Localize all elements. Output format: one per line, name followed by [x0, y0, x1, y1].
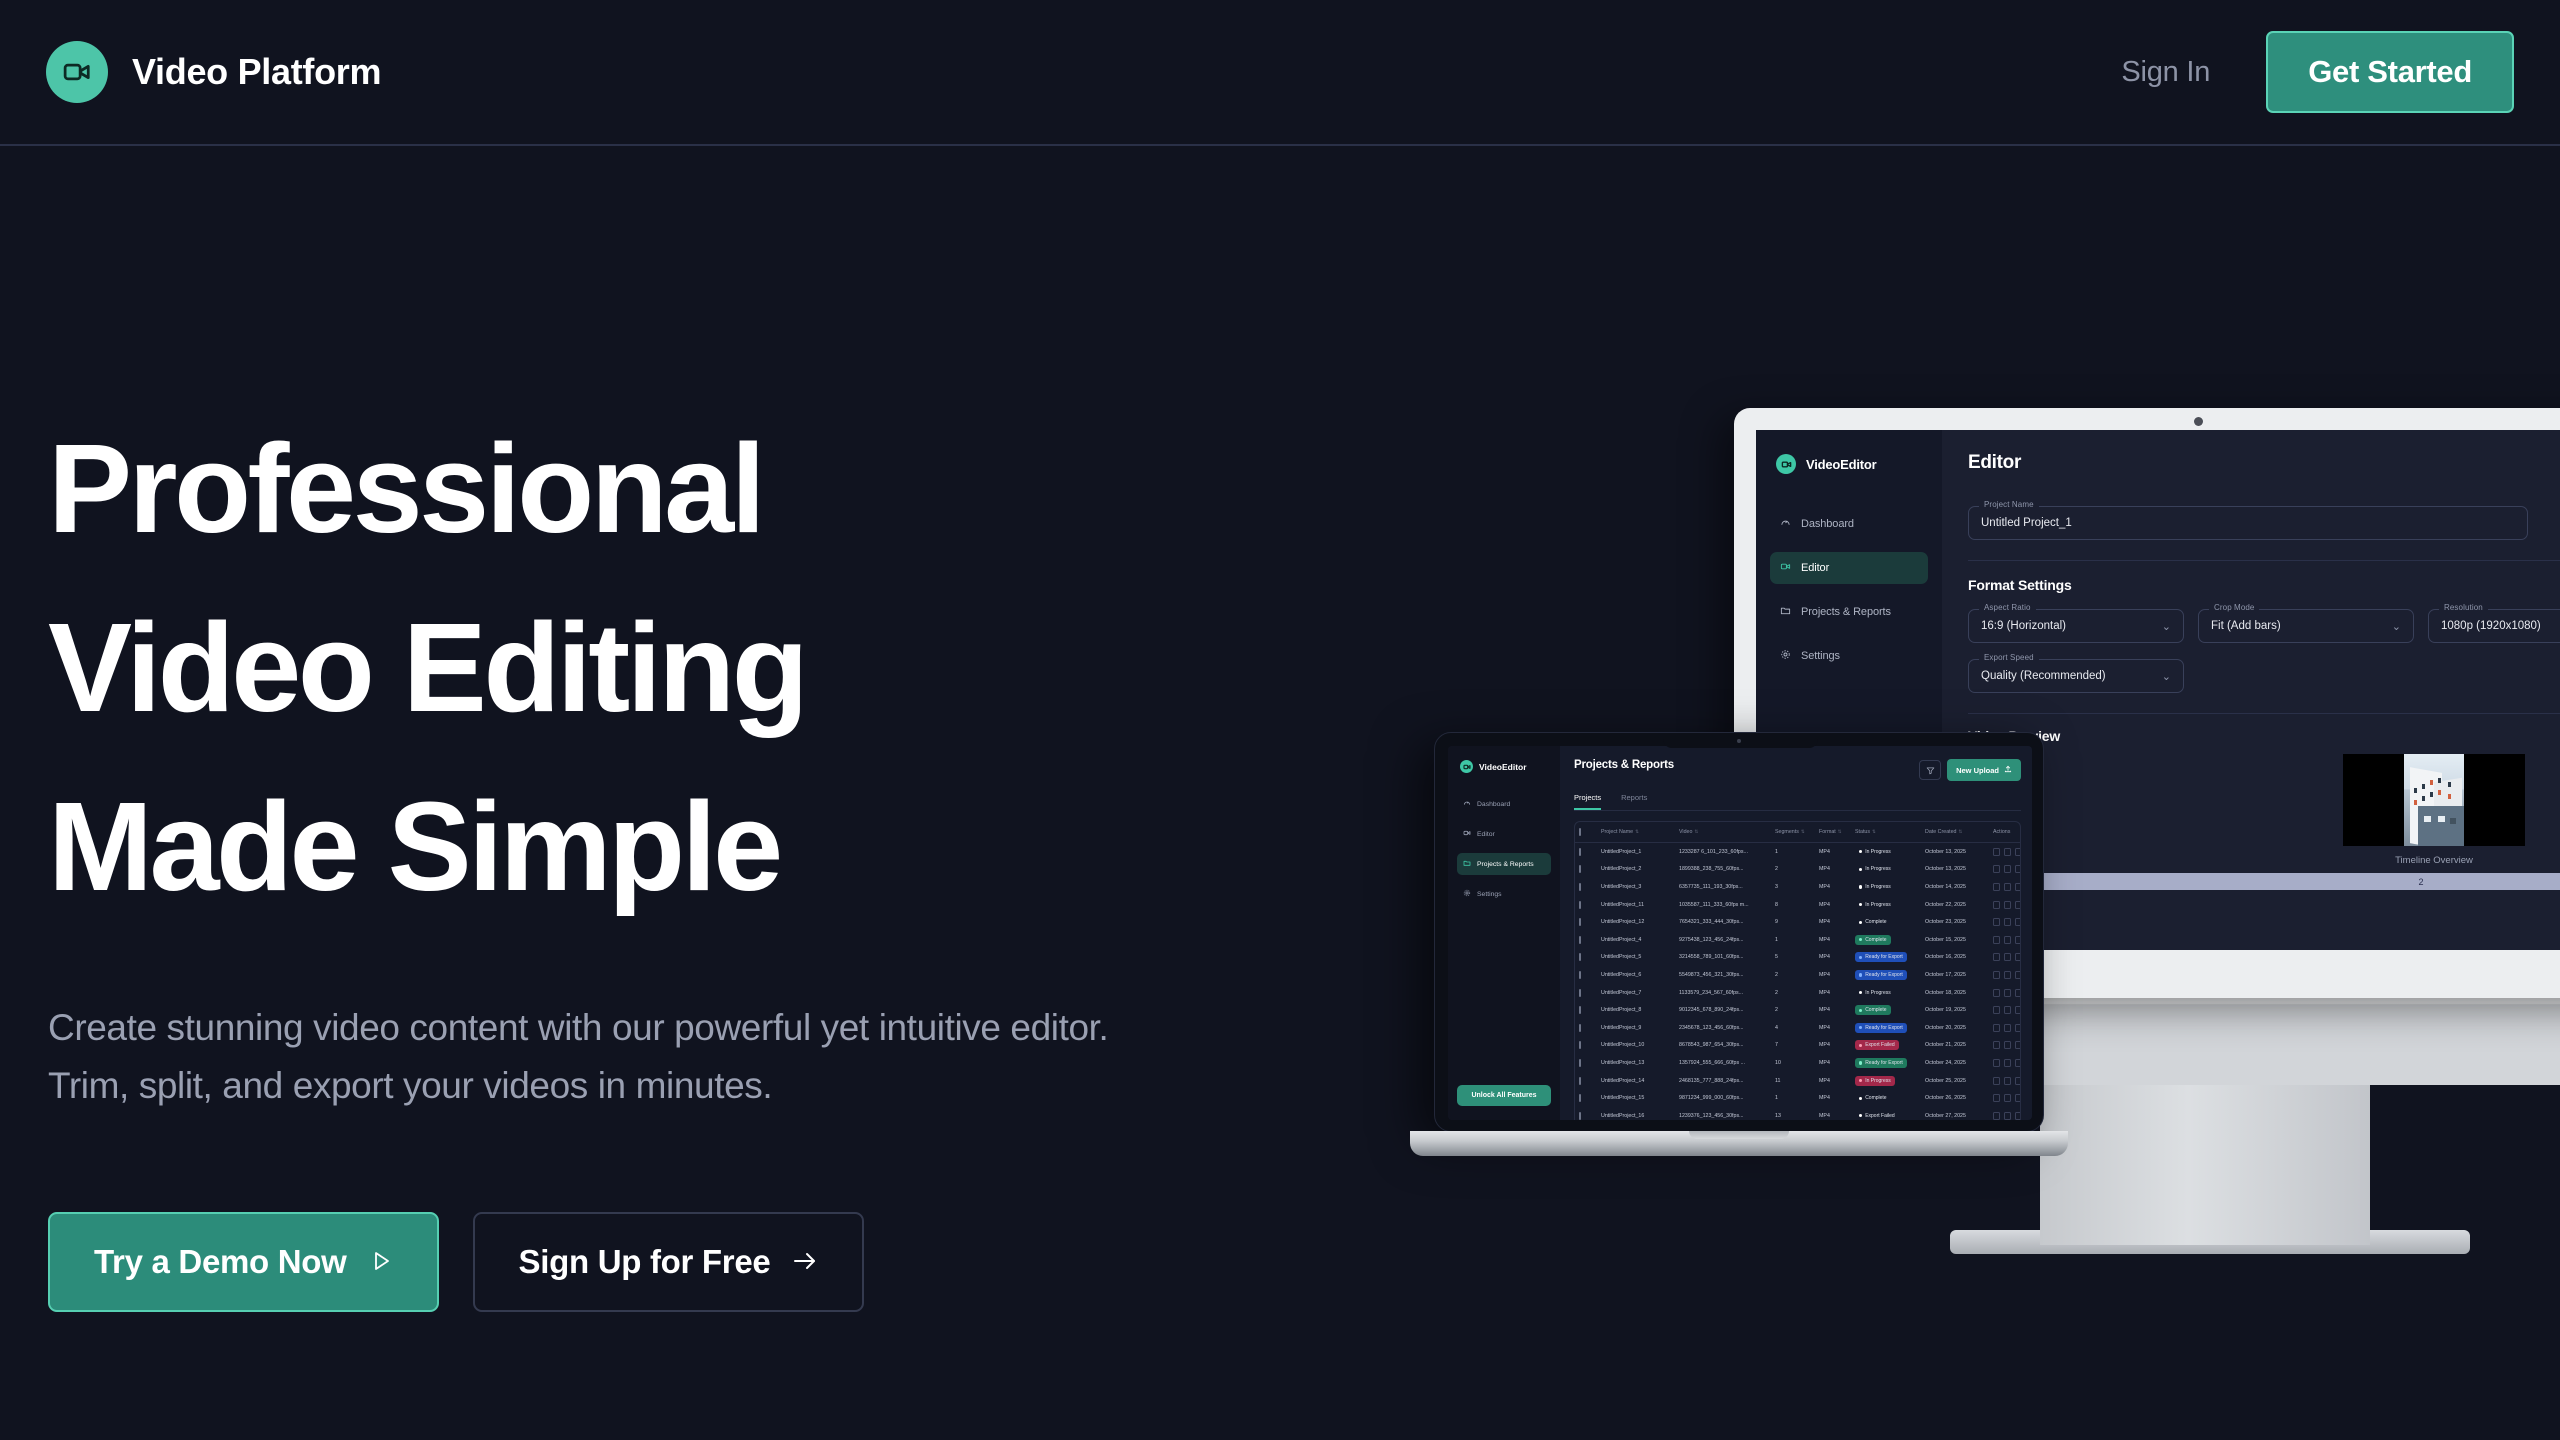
cell-format: MP4 [1819, 1060, 1855, 1066]
delete-icon[interactable] [2015, 918, 2021, 926]
download-icon[interactable] [2004, 971, 2011, 979]
page-title: Professional Video Editing Made Simple [48, 400, 1148, 937]
project-name-value: Untitled Project_1 [1981, 517, 2072, 529]
delete-icon[interactable] [2015, 1041, 2021, 1049]
video-frame-image [2404, 754, 2464, 846]
upload-icon [2004, 765, 2012, 775]
table-header-row: Project Name⇅ Video⇅ Segments⇅ Format⇅ S… [1575, 822, 2020, 843]
video-preview-player[interactable] [2343, 754, 2525, 846]
cell-project-name: UntitledProject_14 [1601, 1078, 1679, 1084]
table-row[interactable]: UntitledProject_65549873_456_321_30fps..… [1575, 966, 2020, 984]
edit-icon[interactable] [1993, 953, 2000, 961]
hero-section: Professional Video Editing Made Simple C… [48, 400, 1148, 1312]
status-badge: Ready for Export [1855, 1058, 1925, 1068]
table-row[interactable]: UntitledProject_127654321_333_444_30fps.… [1575, 913, 2020, 931]
sidebar-item-dashboard[interactable]: Dashboard [1457, 793, 1551, 815]
brand-logo[interactable]: Video Platform [46, 41, 381, 103]
sort-icon: ⇅ [1635, 829, 1639, 834]
cell-video: 8678543_987_654_30fps... [1679, 1042, 1775, 1048]
sidebar-item-dashboard[interactable]: Dashboard [1770, 508, 1928, 540]
cell-segments: 9 [1775, 919, 1819, 925]
sidebar-label: Settings [1801, 650, 1840, 662]
status-badge: Ready for Export [1855, 1023, 1925, 1033]
gauge-icon [1780, 517, 1791, 531]
cell-segments: 1 [1775, 937, 1819, 943]
cell-format: MP4 [1819, 1042, 1855, 1048]
edit-icon[interactable] [1993, 936, 2000, 944]
laptop-header: Projects & Reports New Upload [1574, 759, 2021, 781]
delete-icon[interactable] [2015, 848, 2021, 856]
download-icon[interactable] [2004, 1112, 2011, 1120]
cell-segments: 13 [1775, 1113, 1819, 1119]
cell-date-created: October 24, 2025 [1925, 1060, 1993, 1066]
row-checkbox[interactable] [1579, 1060, 1601, 1066]
cell-format: MP4 [1819, 954, 1855, 960]
download-icon[interactable] [2004, 1094, 2011, 1102]
cell-format: MP4 [1819, 972, 1855, 978]
cell-project-name: UntitledProject_6 [1601, 972, 1679, 978]
crop-mode-value: Fit (Add bars) [2211, 620, 2281, 632]
crop-mode-label: Crop Mode [2209, 603, 2259, 612]
edit-icon[interactable] [1993, 1112, 2000, 1120]
timeline-overview-label: Timeline Overview [1968, 855, 2560, 866]
delete-icon[interactable] [2015, 1059, 2021, 1067]
header-actions: Sign In Get Started [2121, 31, 2514, 113]
download-icon[interactable] [2004, 936, 2011, 944]
row-actions [1993, 918, 2021, 926]
cell-video: 1357924_555_666_60fps ... [1679, 1060, 1775, 1066]
cell-date-created: October 13, 2025 [1925, 849, 1993, 855]
video-camera-icon [1776, 454, 1796, 474]
cell-project-name: UntitledProject_15 [1601, 1095, 1679, 1101]
cell-video: 7654321_333_444_30fps... [1679, 919, 1775, 925]
cell-project-name: UntitledProject_2 [1601, 866, 1679, 872]
delete-icon[interactable] [2015, 1077, 2021, 1085]
download-icon[interactable] [2004, 1006, 2011, 1014]
table-body: UntitledProject_11233287 6_101_233_60fps… [1575, 843, 2020, 1120]
download-icon[interactable] [2004, 1077, 2011, 1085]
download-icon[interactable] [2004, 1059, 2011, 1067]
delete-icon[interactable] [2015, 1094, 2021, 1102]
cell-video: 1133579_234_567_60fps... [1679, 990, 1775, 996]
download-icon[interactable] [2004, 883, 2011, 891]
cell-segments: 8 [1775, 902, 1819, 908]
row-actions [1993, 1077, 2021, 1085]
cell-project-name: UntitledProject_9 [1601, 1025, 1679, 1031]
cell-format: MP4 [1819, 884, 1855, 890]
video-camera-icon [46, 41, 108, 103]
video-preview-header: Video Preview Video player size [1968, 728, 2560, 744]
cell-segments: 1 [1775, 1095, 1819, 1101]
row-actions [1993, 1094, 2021, 1102]
get-started-button[interactable]: Get Started [2266, 31, 2514, 113]
delete-icon[interactable] [2015, 1112, 2021, 1120]
cell-format: MP4 [1819, 1078, 1855, 1084]
hero-cta-group: Try a Demo Now Sign Up for Free [48, 1212, 1148, 1312]
status-badge: Complete [1855, 917, 1925, 927]
sort-icon: ⇅ [1959, 829, 1963, 834]
row-actions [1993, 1041, 2021, 1049]
download-icon[interactable] [2004, 953, 2011, 961]
row-actions [1993, 883, 2021, 891]
download-icon[interactable] [2004, 918, 2011, 926]
brand-name: Video Platform [132, 51, 381, 93]
cell-segments: 2 [1775, 990, 1819, 996]
cell-date-created: October 26, 2025 [1925, 1095, 1993, 1101]
cell-video: 1899388_238_755_60fps... [1679, 866, 1775, 872]
delete-icon[interactable] [2015, 1024, 2021, 1032]
row-actions [1993, 901, 2021, 909]
cell-date-created: October 18, 2025 [1925, 990, 1993, 996]
cell-date-created: October 15, 2025 [1925, 937, 1993, 943]
laptop-mockup: VideoEditor Dashboard Editor Projects & … [1434, 732, 2044, 1156]
row-checkbox[interactable] [1579, 937, 1601, 943]
row-actions [1993, 1006, 2021, 1014]
cell-project-name: UntitledProject_13 [1601, 1060, 1679, 1066]
editor-brand-name: VideoEditor [1806, 457, 1877, 472]
format-settings-title: Format Settings [1968, 577, 2560, 593]
edit-icon[interactable] [1993, 901, 2000, 909]
cell-project-name: UntitledProject_16 [1601, 1113, 1679, 1119]
cell-segments: 2 [1775, 972, 1819, 978]
cell-format: MP4 [1819, 990, 1855, 996]
chevron-down-icon: ⌄ [2162, 620, 2171, 633]
divider [1968, 560, 2560, 561]
sidebar-item-settings[interactable]: Settings [1457, 883, 1551, 905]
laptop-main-panel: Projects & Reports New Upload [1560, 746, 2032, 1120]
delete-icon[interactable] [2015, 883, 2021, 891]
sidebar-label: Editor [1801, 562, 1829, 574]
table-row[interactable]: UntitledProject_92345678_123_456_60fps..… [1575, 1019, 2020, 1037]
row-actions [1993, 953, 2021, 961]
laptop-tabs: Projects Reports [1574, 793, 2021, 811]
hero-title-line-1: Professional [48, 400, 1148, 579]
sort-icon: ⇅ [1872, 829, 1876, 834]
cell-date-created: October 16, 2025 [1925, 954, 1993, 960]
chevron-down-icon: ⌄ [2162, 670, 2171, 683]
edit-icon[interactable] [1993, 989, 2000, 997]
hero-title-line-3: Made Simple [48, 758, 1148, 937]
hero-title-line-2: Video Editing [48, 579, 1148, 758]
cell-format: MP4 [1819, 849, 1855, 855]
delete-icon[interactable] [2015, 936, 2021, 944]
sidebar-label: Settings [1477, 891, 1502, 898]
edit-icon[interactable] [1993, 1094, 2000, 1102]
sign-in-link[interactable]: Sign In [2121, 56, 2210, 89]
tab-projects[interactable]: Projects [1574, 793, 1601, 810]
column-header-date-created[interactable]: Date Created⇅ [1925, 829, 1993, 835]
row-checkbox[interactable] [1579, 1095, 1601, 1101]
row-checkbox[interactable] [1579, 1042, 1601, 1048]
status-badge: Complete [1855, 1005, 1925, 1015]
video-camera-icon [1780, 561, 1791, 575]
gear-icon [1463, 889, 1471, 899]
row-actions [1993, 865, 2021, 873]
sort-icon: ⇅ [1838, 829, 1842, 834]
row-checkbox[interactable] [1579, 1007, 1601, 1013]
cell-format: MP4 [1819, 866, 1855, 872]
status-badge: Ready for Export [1855, 970, 1925, 980]
status-badge: In Progress [1855, 864, 1925, 874]
edit-icon[interactable] [1993, 1006, 2000, 1014]
row-checkbox[interactable] [1579, 866, 1601, 872]
laptop-lid: VideoEditor Dashboard Editor Projects & … [1434, 732, 2044, 1132]
cell-format: MP4 [1819, 1095, 1855, 1101]
column-header-status[interactable]: Status⇅ [1855, 829, 1925, 835]
column-header-format[interactable]: Format⇅ [1819, 829, 1855, 835]
edit-icon[interactable] [1993, 883, 2000, 891]
site-header: Video Platform Sign In Get Started [0, 0, 2560, 146]
video-camera-icon [1460, 760, 1473, 773]
cell-segments: 5 [1775, 954, 1819, 960]
edit-icon[interactable] [1993, 1059, 2000, 1067]
download-icon[interactable] [2004, 865, 2011, 873]
cell-date-created: October 17, 2025 [1925, 972, 1993, 978]
laptop-brand: VideoEditor [1457, 760, 1551, 773]
export-speed-label: Export Speed [1979, 653, 2039, 662]
cell-segments: 1 [1775, 849, 1819, 855]
cell-project-name: UntitledProject_8 [1601, 1007, 1679, 1013]
laptop-base-notch [1689, 1131, 1789, 1139]
status-badge: In Progress [1855, 1076, 1925, 1086]
tab-reports[interactable]: Reports [1621, 793, 1647, 810]
cell-video: 1233287 6_101_233_60fps... [1679, 849, 1775, 855]
folder-icon [1780, 605, 1791, 619]
resolution-select[interactable]: Resolution 1080p (1920x1080) ⌄ [2428, 609, 2560, 643]
table-row[interactable]: UntitledProject_36357735_111_193_30fps..… [1575, 878, 2020, 896]
table-row[interactable]: UntitledProject_161239376_123_456_30fps.… [1575, 1107, 2020, 1120]
row-actions [1993, 848, 2021, 856]
row-checkbox[interactable] [1579, 902, 1601, 908]
cell-date-created: October 23, 2025 [1925, 919, 1993, 925]
download-icon[interactable] [2004, 901, 2011, 909]
cell-segments: 4 [1775, 1025, 1819, 1031]
column-header-segments[interactable]: Segments⇅ [1775, 829, 1819, 835]
edit-icon[interactable] [1993, 865, 2000, 873]
table-row[interactable]: UntitledProject_71133579_234_567_60fps..… [1575, 984, 2020, 1002]
edit-icon[interactable] [1993, 848, 2000, 856]
cell-video: 1035587_111_333_60fps m... [1679, 902, 1775, 908]
table-row[interactable]: UntitledProject_21899388_238_755_60fps..… [1575, 861, 2020, 879]
cell-segments: 2 [1775, 1007, 1819, 1013]
row-checkbox[interactable] [1579, 1025, 1601, 1031]
new-upload-label: New Upload [1956, 766, 1999, 775]
row-actions [1993, 989, 2021, 997]
cell-video: 9012345_678_890_24fps... [1679, 1007, 1775, 1013]
cell-date-created: October 25, 2025 [1925, 1078, 1993, 1084]
row-checkbox[interactable] [1579, 1113, 1601, 1119]
row-checkbox[interactable] [1579, 990, 1601, 996]
cell-video: 1239376_123_456_30fps... [1679, 1113, 1775, 1119]
cell-format: MP4 [1819, 919, 1855, 925]
sidebar-item-editor[interactable]: Editor [1457, 823, 1551, 845]
edit-icon[interactable] [1993, 1024, 2000, 1032]
editor-brand: VideoEditor [1770, 454, 1928, 474]
table-row[interactable]: UntitledProject_49275438_123_456_24fps..… [1575, 931, 2020, 949]
format-fields-row-2: Export Speed Quality (Recommended) ⌄ [1968, 643, 2560, 693]
status-badge: In Progress [1855, 988, 1925, 998]
table-row[interactable]: UntitledProject_108678543_987_654_30fps.… [1575, 1037, 2020, 1055]
download-icon[interactable] [2004, 1024, 2011, 1032]
sidebar-item-settings[interactable]: Settings [1770, 640, 1928, 672]
project-name-label: Project Name [1979, 500, 2039, 509]
delete-icon[interactable] [2015, 865, 2021, 873]
laptop-brand-name: VideoEditor [1479, 762, 1527, 772]
row-checkbox[interactable] [1579, 1078, 1601, 1084]
download-icon[interactable] [2004, 1041, 2011, 1049]
laptop-camera-icon [1737, 739, 1741, 743]
cell-date-created: October 19, 2025 [1925, 1007, 1993, 1013]
status-badge: Ready for Export [1855, 952, 1925, 962]
table-row[interactable]: UntitledProject_111035587_111_333_60fps … [1575, 896, 2020, 914]
projects-table: Project Name⇅ Video⇅ Segments⇅ Format⇅ S… [1574, 821, 2021, 1120]
edit-icon[interactable] [1993, 971, 2000, 979]
cell-date-created: October 22, 2025 [1925, 902, 1993, 908]
video-camera-icon [1463, 829, 1471, 839]
row-actions [1993, 1059, 2021, 1067]
row-checkbox[interactable] [1579, 849, 1601, 855]
folder-icon [1463, 859, 1471, 869]
crop-mode-select[interactable]: Crop Mode Fit (Add bars) ⌄ [2198, 609, 2414, 643]
table-row[interactable]: UntitledProject_53214558_789_101_60fps..… [1575, 949, 2020, 967]
try-demo-button[interactable]: Try a Demo Now [48, 1212, 439, 1312]
cell-video: 9275438_123_456_24fps... [1679, 937, 1775, 943]
table-row[interactable]: UntitledProject_131357924_555_666_60fps … [1575, 1054, 2020, 1072]
cell-format: MP4 [1819, 937, 1855, 943]
laptop-page-title: Projects & Reports [1574, 759, 1674, 771]
download-icon[interactable] [2004, 989, 2011, 997]
cell-video: 2345678_123_456_60fps... [1679, 1025, 1775, 1031]
aspect-ratio-label: Aspect Ratio [1979, 603, 2036, 612]
laptop-sidebar: VideoEditor Dashboard Editor Projects & … [1448, 746, 1560, 1120]
row-checkbox[interactable] [1579, 972, 1601, 978]
unlock-all-features-button[interactable]: Unlock All Features [1457, 1085, 1551, 1106]
cell-date-created: October 20, 2025 [1925, 1025, 1993, 1031]
gear-icon [1780, 649, 1791, 663]
sidebar-label: Editor [1477, 831, 1495, 838]
cell-video: 5549873_456_321_30fps... [1679, 972, 1775, 978]
cell-project-name: UntitledProject_12 [1601, 919, 1679, 925]
column-header-video[interactable]: Video⇅ [1679, 829, 1775, 835]
sign-up-label: Sign Up for Free [519, 1243, 771, 1281]
sidebar-label: Projects & Reports [1801, 606, 1891, 618]
status-badge: Export Failed [1855, 1040, 1925, 1050]
cell-project-name: UntitledProject_1 [1601, 849, 1679, 855]
delete-icon[interactable] [2015, 1006, 2021, 1014]
hero-subtitle: Create stunning video content with our p… [48, 999, 1118, 1116]
resolution-label: Resolution [2439, 603, 2488, 612]
cell-project-name: UntitledProject_4 [1601, 937, 1679, 943]
project-name-field[interactable]: Project Name Untitled Project_1 [1968, 506, 2528, 540]
edit-icon[interactable] [1993, 1041, 2000, 1049]
monitor-camera-icon [2194, 417, 2203, 426]
cell-format: MP4 [1819, 1025, 1855, 1031]
column-header-project-name[interactable]: Project Name⇅ [1601, 829, 1679, 835]
filter-funnel-icon[interactable] [1919, 760, 1941, 780]
row-actions [1993, 936, 2021, 944]
sidebar-item-editor[interactable]: Editor [1770, 552, 1928, 584]
sidebar-item-projects-reports[interactable]: Projects & Reports [1457, 853, 1551, 875]
monitor-stand [2040, 1085, 2370, 1245]
laptop-base [1410, 1131, 2068, 1156]
cell-format: MP4 [1819, 1113, 1855, 1119]
status-badge: In Progress [1855, 900, 1925, 910]
arrow-right-icon [792, 1243, 818, 1281]
resolution-value: 1080p (1920x1080) [2441, 620, 2541, 632]
cell-date-created: October 27, 2025 [1925, 1113, 1993, 1119]
cell-date-created: October 14, 2025 [1925, 884, 1993, 890]
cell-video: 2468135_777_888_24fps... [1679, 1078, 1775, 1084]
cell-format: MP4 [1819, 1007, 1855, 1013]
status-badge: In Progress [1855, 882, 1925, 892]
row-checkbox[interactable] [1579, 919, 1601, 925]
editor-page-title: Editor [1968, 452, 2021, 474]
delete-icon[interactable] [2015, 901, 2021, 909]
aspect-ratio-select[interactable]: Aspect Ratio 16:9 (Horizontal) ⌄ [1968, 609, 2184, 643]
sign-up-free-button[interactable]: Sign Up for Free [473, 1212, 865, 1312]
cell-project-name: UntitledProject_11 [1601, 902, 1679, 908]
cell-segments: 3 [1775, 884, 1819, 890]
row-checkbox[interactable] [1579, 954, 1601, 960]
status-badge: Complete [1855, 1093, 1925, 1103]
edit-icon[interactable] [1993, 1077, 2000, 1085]
row-actions [1993, 971, 2021, 979]
table-row[interactable]: UntitledProject_89012345_678_890_24fps..… [1575, 1001, 2020, 1019]
try-demo-label: Try a Demo Now [94, 1243, 347, 1281]
cell-project-name: UntitledProject_3 [1601, 884, 1679, 890]
projects-app-screen: VideoEditor Dashboard Editor Projects & … [1448, 746, 2032, 1120]
delete-icon[interactable] [2015, 971, 2021, 979]
column-header-actions: Actions [1993, 829, 2021, 835]
cell-video: 6357735_111_193_30fps... [1679, 884, 1775, 890]
status-badge: In Progress [1855, 847, 1925, 857]
cell-date-created: October 13, 2025 [1925, 866, 1993, 872]
laptop-header-actions: New Upload [1919, 759, 2021, 781]
table-row[interactable]: UntitledProject_159871234_999_000_60fps.… [1575, 1089, 2020, 1107]
cell-project-name: UntitledProject_5 [1601, 954, 1679, 960]
cell-segments: 10 [1775, 1060, 1819, 1066]
cell-project-name: UntitledProject_7 [1601, 990, 1679, 996]
cell-segments: 11 [1775, 1078, 1819, 1084]
sidebar-item-projects-reports[interactable]: Projects & Reports [1770, 596, 1928, 628]
table-row[interactable]: UntitledProject_11233287 6_101_233_60fps… [1575, 843, 2020, 861]
cell-segments: 7 [1775, 1042, 1819, 1048]
gauge-icon [1463, 799, 1471, 809]
edit-icon[interactable] [1993, 918, 2000, 926]
sort-icon: ⇅ [1801, 829, 1805, 834]
new-upload-button[interactable]: New Upload [1947, 759, 2021, 781]
export-speed-value: Quality (Recommended) [1981, 670, 2106, 682]
delete-icon[interactable] [2015, 989, 2021, 997]
delete-icon[interactable] [2015, 953, 2021, 961]
row-actions [1993, 1112, 2021, 1120]
cell-project-name: UntitledProject_10 [1601, 1042, 1679, 1048]
export-speed-select[interactable]: Export Speed Quality (Recommended) ⌄ [1968, 659, 2184, 693]
download-icon[interactable] [2004, 848, 2011, 856]
cell-video: 3214558_789_101_60fps... [1679, 954, 1775, 960]
cell-segments: 2 [1775, 866, 1819, 872]
status-badge: Export Failed [1855, 1111, 1925, 1120]
format-fields-row-1: Aspect Ratio 16:9 (Horizontal) ⌄ Crop Mo… [1968, 593, 2560, 643]
cell-date-created: October 21, 2025 [1925, 1042, 1993, 1048]
select-all-checkbox[interactable] [1579, 829, 1601, 835]
table-row[interactable]: UntitledProject_142468135_777_888_24fps.… [1575, 1072, 2020, 1090]
row-checkbox[interactable] [1579, 884, 1601, 890]
sort-icon: ⇅ [1694, 829, 1698, 834]
chevron-down-icon: ⌄ [2392, 620, 2401, 633]
row-actions [1993, 1024, 2021, 1032]
sidebar-label: Projects & Reports [1477, 861, 1534, 868]
